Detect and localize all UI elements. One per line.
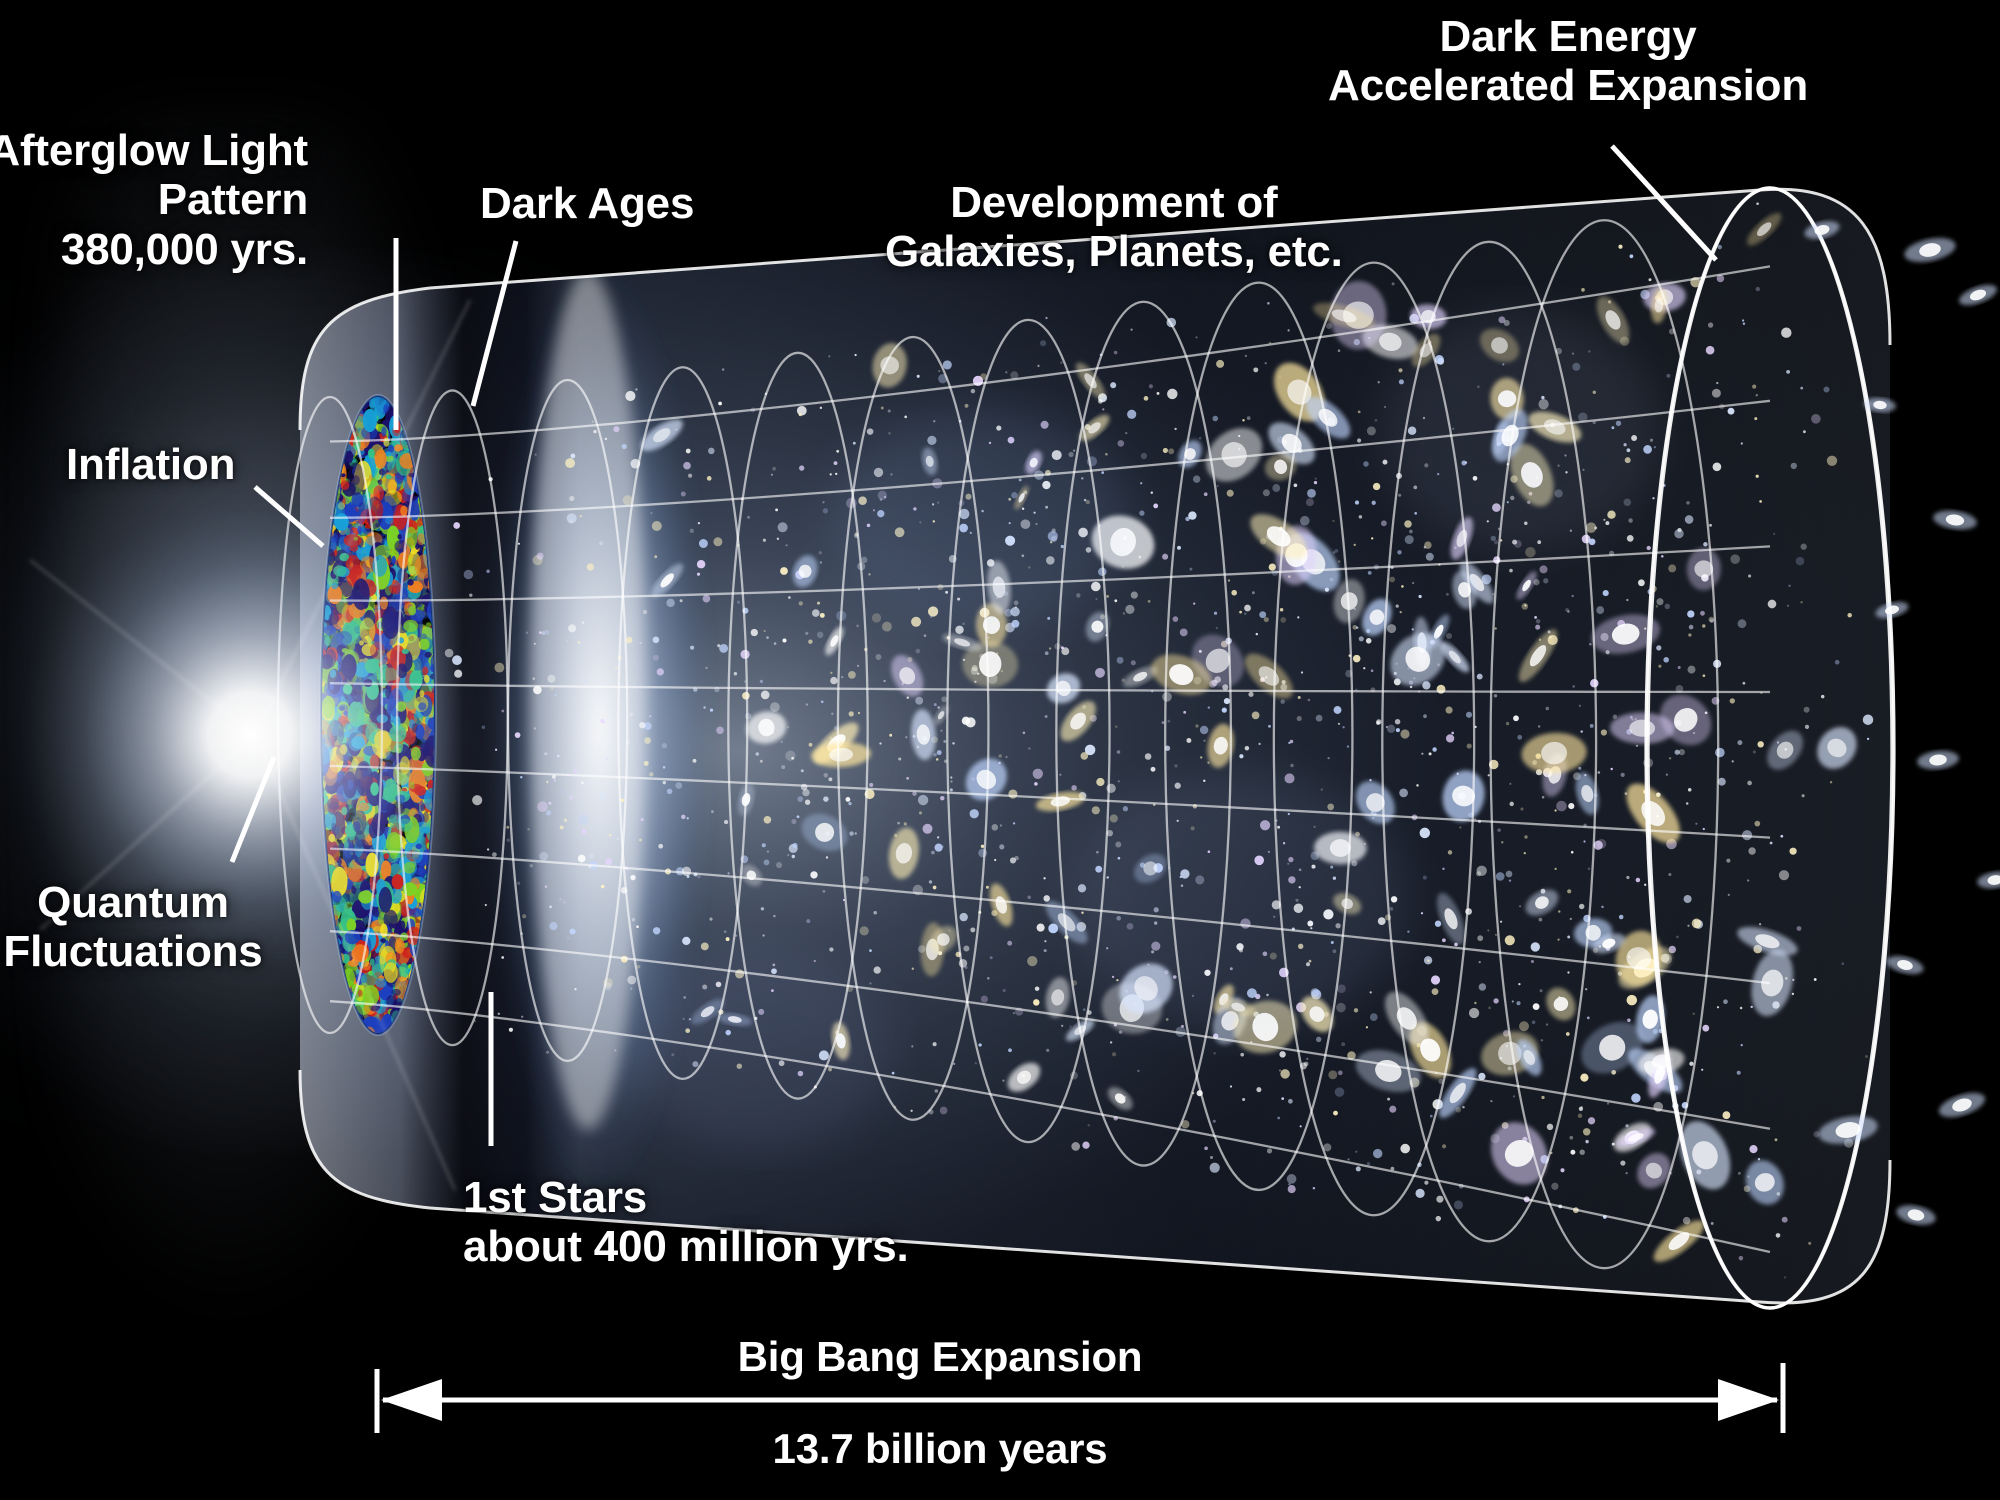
star [1674,529,1683,538]
star [879,742,881,744]
star [1531,960,1534,963]
star [1490,1100,1492,1102]
star [1796,557,1805,566]
star [1231,590,1237,596]
star [587,563,594,570]
star [906,777,909,780]
star [581,782,583,784]
star [912,968,914,970]
star [856,625,859,628]
star [1580,1074,1588,1082]
star [962,717,970,725]
star [1347,745,1349,747]
star [1506,871,1513,878]
star [933,886,937,890]
star [1127,410,1136,419]
cmb-fluctuation [380,938,386,943]
star [507,839,510,842]
star [1716,382,1718,384]
first-stars-line-2: about 400 million yrs. [463,1222,909,1271]
star [1007,941,1012,946]
star [1738,1172,1741,1175]
star [831,713,833,715]
star [1788,585,1790,587]
star [1446,593,1449,596]
star [1583,840,1585,842]
star [495,749,497,751]
star [601,885,605,889]
afterglow-line-3: 380,000 yrs. [0,225,308,274]
star [534,453,536,455]
star [1412,582,1414,584]
star [533,677,536,680]
star [1426,553,1434,561]
star [1743,682,1746,685]
star [1157,392,1160,395]
star [1596,606,1604,614]
star [630,713,634,717]
star [772,467,776,471]
star [1512,1000,1514,1002]
star [1446,707,1453,714]
star [1306,1058,1308,1060]
star [687,817,689,819]
star [1227,490,1234,497]
star [1095,668,1105,678]
star [853,442,856,445]
star [517,882,520,885]
star [565,458,575,468]
star [934,703,937,706]
star [713,537,722,546]
star [1387,1098,1390,1101]
star [937,836,939,838]
star [1083,1008,1086,1011]
star [1369,779,1371,781]
star [1301,671,1303,673]
star [1536,619,1541,624]
star [609,834,611,836]
star [1814,978,1817,981]
development-line-1: Development of [885,178,1343,227]
star [614,1049,616,1051]
star [1140,482,1142,484]
star [632,918,635,921]
star [1306,498,1314,506]
star [606,758,608,760]
star [1114,351,1118,355]
star [1117,440,1124,447]
star [1467,744,1472,749]
star [727,872,729,874]
star [898,757,901,760]
star [1387,624,1396,633]
star [1139,510,1144,515]
star [1264,617,1269,622]
star [810,871,817,878]
star [1780,835,1783,838]
star [1551,1183,1558,1190]
star [775,508,778,511]
star [1676,936,1679,939]
star [1429,752,1432,755]
star [834,461,838,465]
cmb-fluctuation [383,404,388,413]
star [1242,419,1245,422]
star [636,925,639,928]
star [986,886,989,889]
star [1532,1020,1536,1024]
star [1396,728,1400,732]
star [1588,1117,1595,1124]
star [1389,1106,1396,1113]
star [1244,605,1251,612]
star [1407,931,1409,933]
star [1392,282,1395,285]
star [1186,738,1191,743]
star [567,513,577,523]
star [1496,872,1505,881]
star [1045,651,1049,655]
star [763,539,766,542]
afterglow-line-2: Pattern [0,175,308,224]
star [1495,934,1497,936]
star [1314,481,1317,484]
star [1112,1052,1116,1056]
star [1162,721,1165,724]
star [1167,720,1170,723]
star [1567,936,1570,939]
star [1328,1070,1337,1079]
star [829,947,833,951]
star [1570,918,1572,920]
star [1410,686,1412,688]
star [1195,724,1198,727]
star [971,389,975,393]
star [1758,1158,1760,1160]
star [846,797,851,802]
star [560,825,564,829]
star [1546,707,1550,711]
star [1189,568,1192,571]
star [943,740,946,743]
star [1148,600,1151,603]
star [981,996,988,1003]
star [780,567,788,575]
star [1718,245,1722,249]
star [781,741,783,743]
star [1601,729,1607,735]
star [1398,494,1401,497]
star [1585,1140,1588,1143]
star [1044,949,1047,952]
star [1628,518,1633,523]
star [881,407,884,410]
star [1420,828,1430,838]
star [943,360,952,369]
star [1239,754,1243,758]
star [690,529,694,533]
star [1399,789,1408,798]
star [892,1072,895,1075]
star [1400,1144,1410,1154]
star [1005,371,1007,373]
star [1578,767,1581,770]
star [1538,725,1540,727]
star [1524,835,1527,838]
star [820,613,825,618]
star [1701,1069,1703,1071]
star [1686,501,1690,505]
star [469,594,472,597]
star [1710,619,1714,623]
star [882,622,892,632]
star [1703,542,1707,546]
star [1488,1007,1491,1010]
star [509,1028,513,1032]
star [830,672,832,674]
star [1432,747,1436,751]
star [1372,501,1376,505]
star [1162,554,1168,560]
star [707,476,712,481]
star [600,719,604,723]
cmb-fluctuation [369,474,373,481]
star [1280,617,1286,623]
star [1373,1149,1382,1158]
star [1636,878,1640,882]
star [1533,1003,1540,1010]
star [1477,674,1483,680]
cmb-fluctuation [375,978,387,988]
star [1356,1166,1361,1171]
star [791,819,796,824]
star [1666,374,1670,378]
outer-galaxy [1936,1088,1988,1122]
star [975,1062,977,1064]
star [1353,655,1361,663]
star [1071,785,1077,791]
star [933,753,937,757]
star [1748,847,1755,854]
star [1298,696,1301,699]
star [1668,873,1671,876]
star [1757,741,1763,747]
star [1546,1023,1548,1025]
star [1416,784,1419,787]
star [578,855,586,863]
star [1240,1053,1244,1057]
star [1357,438,1361,442]
star [1405,535,1414,544]
star [1571,851,1574,854]
star [1542,796,1545,799]
star [978,1043,981,1046]
star [904,416,907,419]
cmb-fluctuation [400,506,407,517]
star [567,937,569,939]
star [1409,530,1413,534]
star [1567,610,1570,613]
star [792,855,795,858]
star [663,781,666,784]
star [1688,788,1692,792]
star [1709,524,1712,527]
star [1459,826,1461,828]
dark-energy-line-1: Dark Energy [1248,12,1888,61]
star [697,573,700,576]
dark-energy-line-2: Accelerated Expansion [1248,61,1888,110]
star [1589,538,1596,545]
star [1558,910,1560,912]
star [563,900,566,903]
star [1316,1037,1322,1043]
star [1069,1025,1071,1027]
label-first-stars: 1st Stars about 400 million yrs. [463,1173,909,1272]
star [1732,760,1734,762]
star [1210,1163,1220,1173]
star [1213,1052,1215,1054]
star [1046,1049,1049,1052]
star [681,492,686,497]
star [1200,726,1208,734]
star [1560,1168,1564,1172]
star [999,844,1004,849]
star [1414,512,1417,515]
star [1649,278,1652,281]
star [1585,988,1587,990]
star [1131,660,1136,665]
star [609,772,613,776]
star [1355,501,1359,505]
star [1396,604,1399,607]
star [1723,999,1728,1004]
star [992,824,999,831]
star [1500,921,1502,923]
star [952,742,954,744]
star [1137,1070,1139,1072]
star [472,795,482,805]
star [761,691,770,700]
star [564,819,567,822]
star [680,599,683,602]
star [1370,1013,1378,1021]
star [635,388,637,390]
star [1258,743,1260,745]
star [802,789,809,796]
star [924,634,927,637]
star [1802,794,1805,797]
star [1568,803,1574,809]
star [767,850,769,852]
star [1368,571,1372,575]
star [1620,1161,1625,1166]
star [1689,625,1694,630]
star [1252,591,1255,594]
star [1027,896,1031,900]
star [1867,738,1869,740]
star [561,790,565,794]
star [1665,604,1670,609]
star [701,942,709,950]
star [1787,605,1789,607]
star [841,676,843,678]
star [498,1013,500,1015]
star [763,934,765,936]
star [1332,520,1334,522]
star [1572,595,1574,597]
star [1095,598,1097,600]
star [643,610,647,614]
star [808,639,812,643]
star [1446,734,1454,742]
star [621,799,624,802]
star [1638,579,1645,586]
star [835,473,837,475]
star [823,796,828,801]
star [571,454,576,459]
star [801,769,804,772]
star [653,927,660,934]
star [848,671,856,679]
star [1149,384,1153,388]
star [1035,986,1040,991]
star [1509,569,1513,573]
star [506,826,509,829]
star [1401,585,1404,588]
star [1092,806,1100,814]
star [1338,349,1341,352]
star [828,355,830,357]
star [605,438,607,440]
star [1863,714,1874,725]
star [869,982,871,984]
star [554,779,556,781]
outer-galaxy [1902,234,1957,266]
star [630,987,632,989]
star [539,852,548,861]
star [1404,520,1412,528]
big-bang-expansion-text: Big Bang Expansion [738,1333,1143,1380]
star [1493,998,1498,1003]
outer-galaxy [1932,508,1978,532]
star [641,818,644,821]
star [605,858,612,865]
star [1200,756,1202,758]
star [1684,895,1692,903]
star [1808,1242,1811,1245]
star [1583,1128,1590,1135]
star [1495,627,1497,629]
star [726,937,730,941]
star [1756,202,1759,205]
star [806,703,808,705]
star [1435,921,1441,927]
star [1141,453,1147,459]
star [828,777,832,781]
label-development-of-galaxies: Development of Galaxies, Planets, etc. [885,178,1343,277]
star [1224,698,1230,704]
star [751,629,758,636]
star [1756,475,1759,478]
star [904,822,907,825]
star [1804,707,1810,713]
star [760,760,763,763]
star [797,406,807,416]
star [1842,962,1845,965]
star [776,862,782,868]
star [777,538,779,540]
